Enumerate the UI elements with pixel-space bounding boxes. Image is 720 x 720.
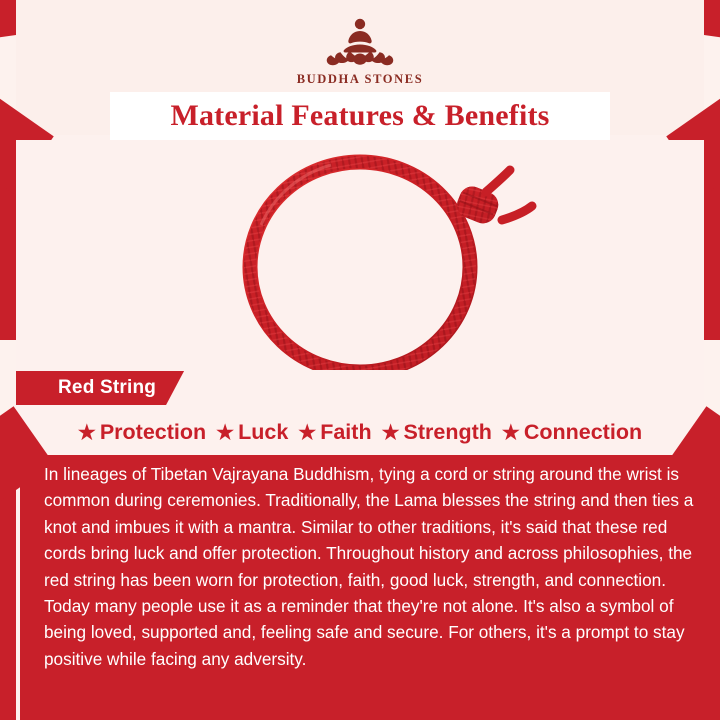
keyword-label: Faith bbox=[320, 420, 371, 445]
star-icon: ★ bbox=[216, 423, 234, 443]
product-tag-label: Red String bbox=[58, 377, 156, 399]
title-banner: Material Features & Benefits bbox=[110, 92, 610, 140]
keyword-strength: ★ Strength bbox=[377, 420, 497, 445]
star-icon: ★ bbox=[382, 423, 400, 443]
red-braided-string-bracelet-illustration bbox=[16, 140, 704, 370]
brand-name: BUDDHA STONES bbox=[0, 72, 720, 87]
keyword-label: Protection bbox=[100, 420, 206, 445]
star-icon: ★ bbox=[298, 423, 316, 443]
keyword-luck: ★ Luck bbox=[211, 420, 293, 445]
lotus-meditation-icon bbox=[314, 14, 406, 70]
product-image bbox=[16, 140, 704, 370]
star-icon: ★ bbox=[78, 423, 96, 443]
benefit-keywords: ★ Protection ★ Luck ★ Faith ★ Strength ★… bbox=[16, 420, 704, 445]
keyword-label: Connection bbox=[524, 420, 642, 445]
description-block: In lineages of Tibetan Vajrayana Buddhis… bbox=[20, 455, 704, 720]
page-title: Material Features & Benefits bbox=[170, 99, 549, 133]
infographic-page: BUDDHA STONES Material Features & Benefi… bbox=[0, 0, 720, 720]
keyword-protection: ★ Protection bbox=[73, 420, 211, 445]
keyword-label: Strength bbox=[404, 420, 492, 445]
keyword-connection: ★ Connection bbox=[497, 420, 647, 445]
star-icon: ★ bbox=[502, 423, 520, 443]
description-text: In lineages of Tibetan Vajrayana Buddhis… bbox=[44, 461, 704, 672]
keyword-faith: ★ Faith bbox=[293, 420, 376, 445]
product-tag: Red String bbox=[16, 371, 184, 405]
brand-logo: BUDDHA STONES bbox=[0, 14, 720, 87]
keyword-label: Luck bbox=[238, 420, 288, 445]
